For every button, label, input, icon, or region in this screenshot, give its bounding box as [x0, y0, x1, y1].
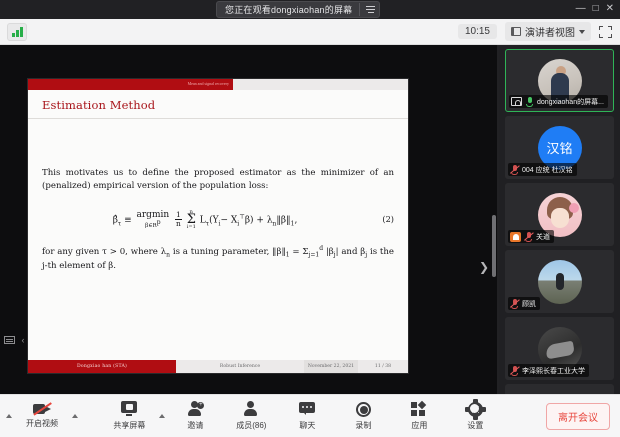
viewing-screen-banner-text: 您正在观看dongxiaohan的屏幕: [225, 3, 352, 16]
eq-argmin-sub-sup: p: [157, 219, 161, 226]
participant-tile-1[interactable]: 汉铭 004 应统 杜汉铭: [505, 116, 614, 179]
toolbar-right-group: 离开会议: [546, 403, 620, 430]
participant-nameplate: 关遒: [508, 230, 554, 243]
thumbnails-icon[interactable]: [4, 336, 15, 344]
view-mode-dropdown[interactable]: 演讲者视图: [505, 22, 591, 41]
slide-footer-author: Dongxiao han (STA): [28, 360, 176, 373]
p2-c: = Σ: [290, 247, 309, 257]
apps-grid-icon: [410, 401, 428, 417]
apps-label: 应用: [411, 420, 427, 431]
zoom-meeting-window: 您正在观看dongxiaohan的屏幕 — □ ✕ 10:15 演讲者视图 Me…: [0, 0, 620, 437]
fullscreen-icon[interactable]: [599, 26, 612, 38]
slide-footer-page: 11 / 38: [358, 360, 408, 373]
speaker-view-icon: [511, 27, 521, 36]
eq-tail: ,: [294, 215, 297, 225]
slide-footer: Dongxiao han (STA) Robust Inference Nove…: [28, 360, 408, 373]
participant-nameplate: 李泽熙长春工业大学: [508, 364, 589, 377]
eq-summation: n Σ i=1: [187, 210, 196, 230]
slide-equation-number: (2): [368, 213, 394, 226]
chevron-up-icon: [159, 414, 165, 418]
slide-paragraph-1: This motivates us to define the proposed…: [42, 167, 394, 194]
eq-frac-denominator: n: [175, 220, 182, 228]
presentation-slide: Mean and signal recovery Estimation Meth…: [28, 79, 408, 373]
viewing-screen-banner[interactable]: 您正在观看dongxiaohan的屏幕: [216, 1, 380, 18]
person-add-icon: +: [186, 401, 204, 417]
share-toolbar-right: 10:15 演讲者视图: [458, 22, 612, 41]
chevron-down-icon: [579, 30, 585, 34]
p2-d: |β: [323, 247, 334, 257]
participant-nameplate: 顾凯: [508, 297, 540, 310]
p2-e: | and β: [336, 247, 366, 257]
eq-rest-4: ‖β‖: [276, 215, 290, 225]
slide-body: This motivates us to define the proposed…: [28, 119, 408, 360]
shared-screen-area[interactable]: Mean and signal recovery Estimation Meth…: [0, 45, 497, 394]
eq-argmin-op: argmin: [137, 211, 170, 220]
signal-bars-icon[interactable]: [7, 23, 27, 41]
participant-name: 顾凯: [522, 299, 536, 309]
start-video-button[interactable]: 开启视频: [14, 395, 70, 437]
slide-title: Estimation Method: [28, 90, 408, 112]
screen-share-icon: [120, 401, 138, 417]
microphone-muted-icon: [510, 164, 519, 175]
start-video-label: 开启视频: [26, 418, 58, 429]
eq-rel: ≡: [124, 215, 132, 225]
window-controls: — □ ✕: [576, 4, 614, 14]
eq-rest-1: (Y: [209, 215, 218, 225]
clock-label: 10:15: [458, 24, 497, 39]
chat-label: 聊天: [299, 420, 315, 431]
eq-lhs-sub: τ: [118, 220, 121, 227]
participant-nameplate: 004 应统 杜汉铭: [508, 163, 577, 176]
slide-footer-subject: Robust Inference: [176, 360, 304, 373]
slide-nav-left[interactable]: ‹: [0, 326, 28, 354]
participant-name: 004 应统 杜汉铭: [522, 165, 573, 175]
participant-name: dongxiaohan的屏幕...: [537, 97, 604, 107]
eq-fraction: 1 n: [175, 211, 182, 228]
chevron-left-icon[interactable]: ‹: [22, 335, 25, 345]
participant-tile-5[interactable]: [505, 384, 614, 394]
video-options-chevron[interactable]: [70, 395, 80, 437]
eq-sum-lower: i=1: [187, 225, 196, 230]
participant-nameplate: dongxiaohan的屏幕...: [509, 95, 608, 108]
share-screen-label: 共享屏幕: [113, 420, 145, 431]
slide-equation: β̂τ ≡ argmin β∈Rp 1 n n Σ: [42, 210, 368, 230]
record-label: 录制: [355, 420, 371, 431]
toolbar-center-group: 共享屏幕 + 邀请 成员(86) 聊天 录制 应用: [101, 395, 503, 437]
p2-a: for any given τ > 0, where λ: [42, 247, 166, 257]
shared-screen-scrollbar[interactable]: [492, 215, 496, 277]
settings-button[interactable]: 设置: [447, 395, 503, 437]
eq-argmin-sub: β∈Rp: [145, 220, 160, 229]
eq-rest-3: β) + λ: [245, 215, 273, 225]
minimize-button[interactable]: —: [576, 4, 586, 14]
participant-strip[interactable]: dongxiaohan的屏幕... 汉铭 004 应统 杜汉铭 关遒 顾凯: [499, 45, 620, 394]
participant-tile-0[interactable]: dongxiaohan的屏幕...: [505, 49, 614, 112]
participant-name: 李泽熙长春工业大学: [522, 366, 585, 376]
p2-c-sub: j=1: [308, 252, 319, 259]
audio-options-chevron[interactable]: [4, 395, 14, 437]
camera-off-icon: [33, 403, 51, 415]
chevron-right-icon[interactable]: ❯: [479, 260, 489, 274]
eq-argmin: argmin β∈Rp: [137, 211, 170, 229]
slide-header-bar: Mean and signal recovery: [28, 79, 408, 90]
close-button[interactable]: ✕: [606, 4, 614, 14]
settings-label: 设置: [467, 420, 483, 431]
invite-button[interactable]: + 邀请: [167, 395, 223, 437]
participant-name: 关遒: [536, 232, 550, 242]
p2-b: is a tuning parameter, ‖β‖: [170, 247, 286, 257]
participant-tile-3[interactable]: 顾凯: [505, 250, 614, 313]
hamburger-icon[interactable]: [359, 3, 375, 16]
microphone-icon: [525, 96, 534, 107]
apps-button[interactable]: 应用: [391, 395, 447, 437]
eq-rest-2-sub: i: [237, 220, 239, 227]
share-options-chevron[interactable]: [157, 395, 167, 437]
share-screen-button[interactable]: 共享屏幕: [101, 395, 157, 437]
microphone-muted-icon: [510, 365, 519, 376]
toolbar-left-group: 开启视频: [0, 395, 80, 437]
invite-label: 邀请: [187, 420, 203, 431]
slide-header-red: Mean and signal recovery: [28, 79, 233, 90]
chat-button[interactable]: 聊天: [279, 395, 335, 437]
host-badge-icon: [510, 232, 521, 242]
microphone-muted-icon: [524, 231, 533, 242]
slide-paragraph-2: for any given τ > 0, where λn is a tunin…: [42, 244, 394, 273]
slide-footer-date: November 22, 2021: [304, 360, 358, 373]
eq-argmin-sub-text: β∈R: [145, 222, 157, 228]
record-circle-icon: [356, 402, 371, 417]
leave-meeting-button[interactable]: 离开会议: [546, 403, 610, 430]
eq-rest-2: − X: [220, 215, 237, 225]
members-label: 成员(86): [236, 420, 266, 431]
gear-icon: [468, 402, 483, 417]
share-toolbar: 10:15 演讲者视图: [0, 19, 620, 45]
chevron-up-icon: [72, 414, 78, 418]
maximize-button[interactable]: □: [593, 4, 599, 14]
chat-bubble-icon: [298, 401, 316, 417]
screen-share-icon: [511, 97, 522, 106]
participant-tile-2[interactable]: 关遒: [505, 183, 614, 246]
members-button[interactable]: 成员(86): [223, 395, 279, 437]
view-mode-label: 演讲者视图: [525, 24, 575, 39]
chevron-up-icon: [6, 414, 12, 418]
microphone-muted-icon: [510, 298, 519, 309]
slide-equation-row: β̂τ ≡ argmin β∈Rp 1 n n Σ: [42, 210, 394, 230]
record-button[interactable]: 录制: [335, 395, 391, 437]
person-icon: [242, 401, 260, 417]
participant-tile-4[interactable]: 李泽熙长春工业大学: [505, 317, 614, 380]
meeting-toolbar: 开启视频 共享屏幕 + 邀请 成员(86) 聊天: [0, 394, 620, 437]
avatar: [538, 260, 582, 304]
slide-header-grey: [233, 79, 408, 90]
slide-header-tiny-text: Mean and signal recovery: [188, 81, 229, 86]
